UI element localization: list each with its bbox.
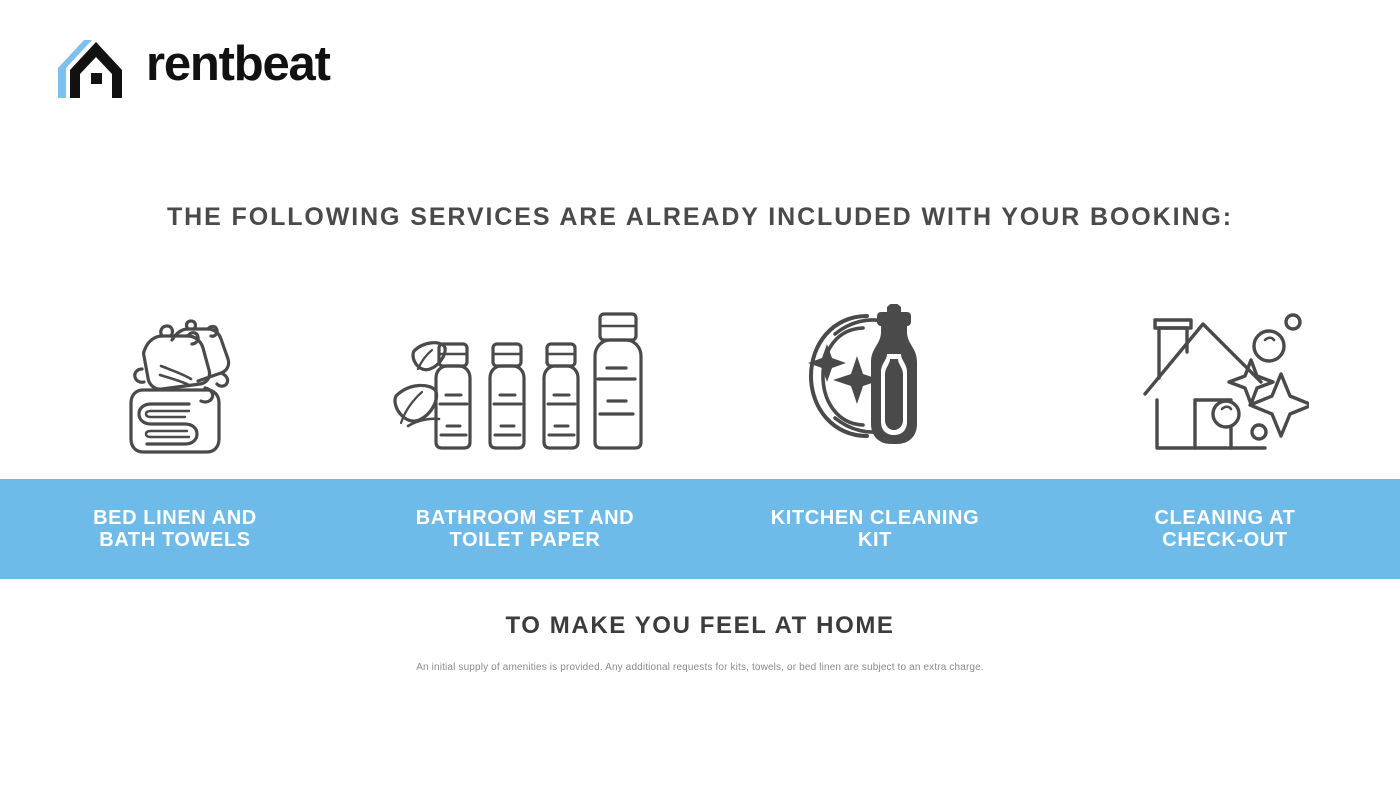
service-label-bed-linen: BED LINEN AND BATH TOWELS [8, 507, 342, 551]
service-icon-cell-checkout-cleaning [1050, 286, 1400, 456]
house-logo-icon [52, 28, 132, 100]
toiletry-bottles-icon [392, 306, 658, 456]
service-icon-cell-bed-linen [0, 286, 350, 456]
brand-logo[interactable]: rentbeat [52, 28, 330, 100]
service-label-kitchen-kit: KITCHEN CLEANING KIT [708, 507, 1042, 551]
page-title: THE FOLLOWING SERVICES ARE ALREADY INCLU… [0, 203, 1400, 232]
service-icon-cell-bathroom-set [350, 286, 700, 456]
brand-wordmark: rentbeat [146, 40, 330, 89]
service-label-cell: BATHROOM SET AND TOILET PAPER [350, 507, 700, 551]
service-icon-cell-kitchen-kit [700, 286, 1050, 456]
service-label-cell: CLEANING AT CHECK-OUT [1050, 507, 1400, 551]
service-label-cell: KITCHEN CLEANING KIT [700, 507, 1050, 551]
footnote-disclaimer: An initial supply of amenities is provid… [0, 662, 1400, 673]
service-label-cell: BED LINEN AND BATH TOWELS [0, 507, 350, 551]
bed-linen-towels-icon [109, 304, 241, 456]
dish-soap-bottle-icon [805, 304, 945, 456]
service-label-bathroom-set: BATHROOM SET AND TOILET PAPER [358, 507, 692, 551]
service-label-checkout-cleaning: CLEANING AT CHECK-OUT [1058, 507, 1392, 551]
sparkling-house-icon [1141, 304, 1309, 456]
service-label-band: BED LINEN AND BATH TOWELS BATHROOM SET A… [0, 479, 1400, 579]
service-icon-row [0, 286, 1400, 456]
slide-root: rentbeat THE FOLLOWING SERVICES ARE ALRE… [0, 0, 1400, 788]
tagline: TO MAKE YOU FEEL AT HOME [0, 612, 1400, 640]
